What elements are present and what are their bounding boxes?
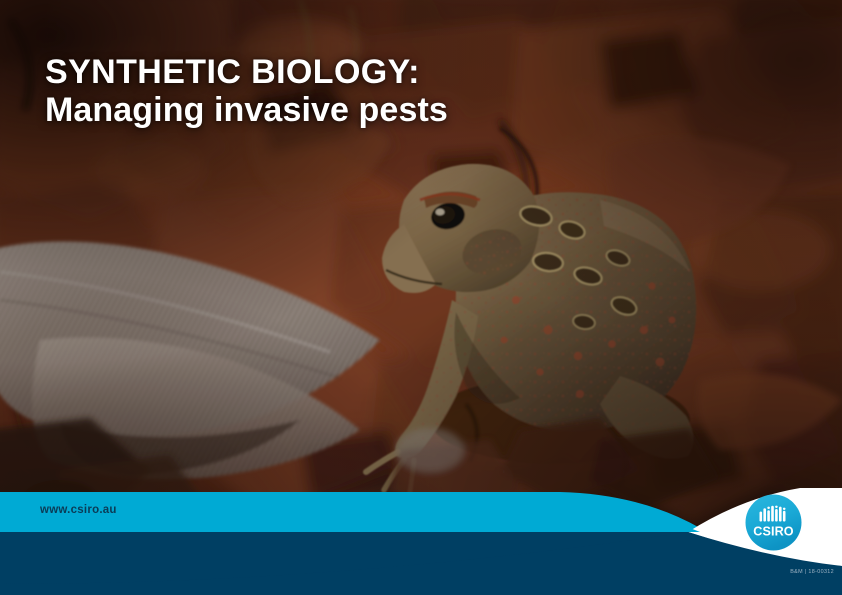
title-line-secondary: Managing invasive pests bbox=[45, 90, 448, 131]
title-line-primary: SYNTHETIC BIOLOGY: bbox=[45, 54, 448, 90]
cover-title: SYNTHETIC BIOLOGY: Managing invasive pes… bbox=[45, 54, 448, 132]
footer-band bbox=[0, 488, 842, 595]
poster-cover: SYNTHETIC BIOLOGY: Managing invasive pes… bbox=[0, 0, 842, 595]
website-url[interactable]: www.csiro.au bbox=[40, 504, 117, 516]
csiro-logo[interactable]: CSIRO bbox=[745, 494, 802, 551]
document-code: B&M | 18-00312 bbox=[790, 569, 834, 575]
csiro-wordmark: CSIRO bbox=[753, 524, 793, 538]
